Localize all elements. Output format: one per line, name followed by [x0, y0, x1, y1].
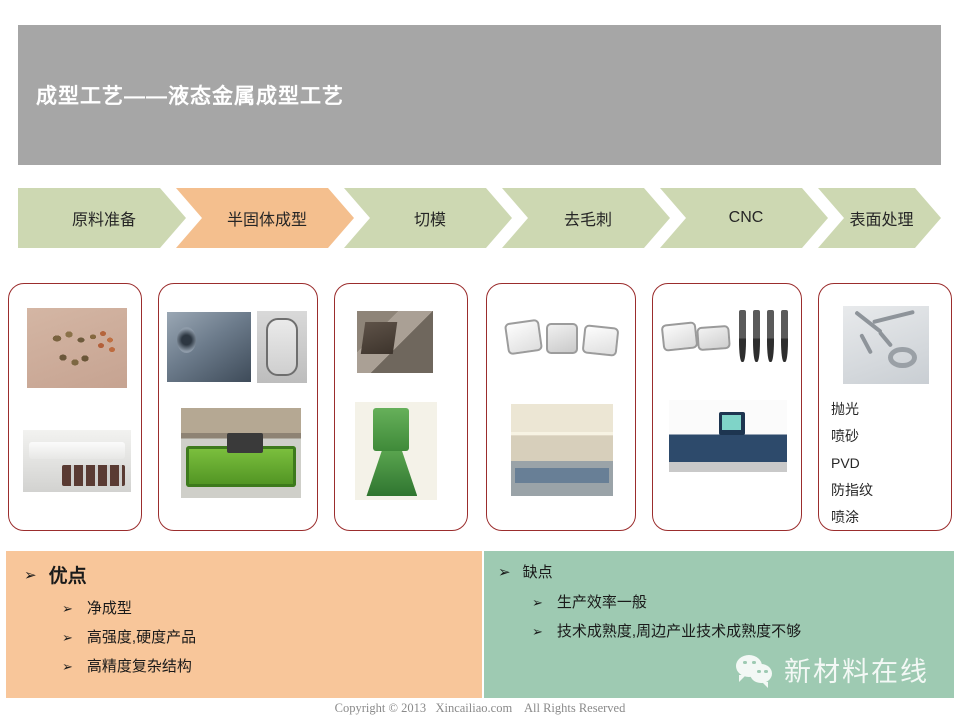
- bullet-arrow-icon: ➢: [62, 623, 73, 652]
- process-flow: 原料准备 半固体成型 切模 去毛刺 CNC 表面处理: [18, 188, 941, 248]
- metal-sheet-stack-photo: [357, 311, 433, 373]
- bullet-arrow-icon: ➢: [532, 617, 543, 646]
- surface-option-spray: 喷涂: [831, 504, 873, 531]
- workshop-bench-photo: [511, 404, 613, 496]
- process-step-3-label: 切模: [410, 206, 446, 230]
- disadvantages-heading: ➢ 缺点: [498, 561, 954, 582]
- surface-treatment-list: 抛光 喷砂 PVD 防指纹 喷涂: [831, 396, 873, 531]
- semi-solid-card[interactable]: [158, 283, 318, 531]
- process-step-1-label: 原料准备: [68, 206, 136, 230]
- advantage-item-3-label: 高精度复杂结构: [87, 652, 192, 681]
- drill-bits-photo: [735, 308, 793, 364]
- process-step-5-label: CNC: [725, 209, 764, 227]
- polished-hardware-photo: [843, 306, 929, 384]
- deburring-card[interactable]: [486, 283, 636, 531]
- surface-option-polish: 抛光: [831, 396, 873, 423]
- trim-die-card[interactable]: [334, 283, 468, 531]
- process-step-3[interactable]: 切模: [344, 188, 512, 248]
- cnc-lathe-photo: [669, 400, 787, 472]
- surface-treatment-card[interactable]: 抛光 喷砂 PVD 防指纹 喷涂: [818, 283, 952, 531]
- digital-scale-photo: [23, 430, 131, 492]
- metal-chips-photo: [27, 308, 127, 388]
- bullet-arrow-icon: ➢: [62, 594, 73, 623]
- surface-option-antifinger: 防指纹: [831, 477, 873, 504]
- bullet-arrow-icon: ➢: [24, 566, 37, 584]
- disadvantage-item-1-label: 生产效率一般: [557, 588, 647, 617]
- header-bar: 成型工艺——液态金属成型工艺: [18, 25, 941, 165]
- advantages-panel: ➢ 优点 ➢ 净成型 ➢ 高强度,硬度产品 ➢ 高精度复杂结构: [6, 551, 482, 698]
- disadvantage-item-2-label: 技术成熟度,周边产业技术成熟度不够: [557, 617, 801, 646]
- metal-frames-photo: [499, 314, 623, 366]
- advantages-title: 优点: [49, 561, 87, 588]
- injection-molding-machine-photo: [181, 408, 301, 498]
- bullet-arrow-icon: ➢: [532, 588, 543, 617]
- process-step-2[interactable]: 半固体成型: [176, 188, 354, 248]
- process-step-4-label: 去毛刺: [560, 206, 612, 230]
- page-title: 成型工艺——液态金属成型工艺: [36, 80, 344, 110]
- process-step-1[interactable]: 原料准备: [18, 188, 186, 248]
- image-card-row: 抛光 喷砂 PVD 防指纹 喷涂: [8, 283, 952, 531]
- mold-tooling-photo: [167, 312, 251, 382]
- process-step-4[interactable]: 去毛刺: [502, 188, 670, 248]
- advantage-item-3: ➢ 高精度复杂结构: [62, 652, 482, 681]
- disadvantage-item-1: ➢ 生产效率一般: [532, 588, 954, 617]
- raw-material-card[interactable]: [8, 283, 142, 531]
- process-step-6[interactable]: 表面处理: [818, 188, 941, 248]
- advantages-heading: ➢ 优点: [24, 561, 482, 588]
- footer-copyright: Copyright © 2013 Xincailiao.com All Righ…: [0, 701, 960, 716]
- bullet-arrow-icon: ➢: [498, 563, 511, 581]
- cnc-card[interactable]: [652, 283, 802, 531]
- surface-option-pvd: PVD: [831, 450, 873, 477]
- disadvantages-title: 缺点: [523, 561, 553, 582]
- advantages-list: ➢ 净成型 ➢ 高强度,硬度产品 ➢ 高精度复杂结构: [62, 594, 482, 681]
- metal-bezel-photo: [257, 311, 307, 383]
- advantage-item-2-label: 高强度,硬度产品: [87, 623, 196, 652]
- watermark-text: 新材料在线: [784, 650, 929, 689]
- advantage-item-1-label: 净成型: [87, 594, 132, 623]
- cnc-parts-photo: [661, 314, 733, 362]
- watermark: 新材料在线: [736, 650, 929, 689]
- bullet-arrow-icon: ➢: [62, 652, 73, 681]
- process-step-5[interactable]: CNC: [660, 188, 828, 248]
- advantage-item-2: ➢ 高强度,硬度产品: [62, 623, 482, 652]
- surface-option-sandblast: 喷砂: [831, 423, 873, 450]
- punch-press-photo: [355, 402, 437, 500]
- wechat-icon: [736, 655, 776, 685]
- process-step-2-label: 半固体成型: [223, 206, 307, 230]
- disadvantage-item-2: ➢ 技术成熟度,周边产业技术成熟度不够: [532, 617, 954, 646]
- disadvantages-list: ➢ 生产效率一般 ➢ 技术成熟度,周边产业技术成熟度不够: [532, 588, 954, 646]
- process-step-6-label: 表面处理: [845, 206, 913, 230]
- advantage-item-1: ➢ 净成型: [62, 594, 482, 623]
